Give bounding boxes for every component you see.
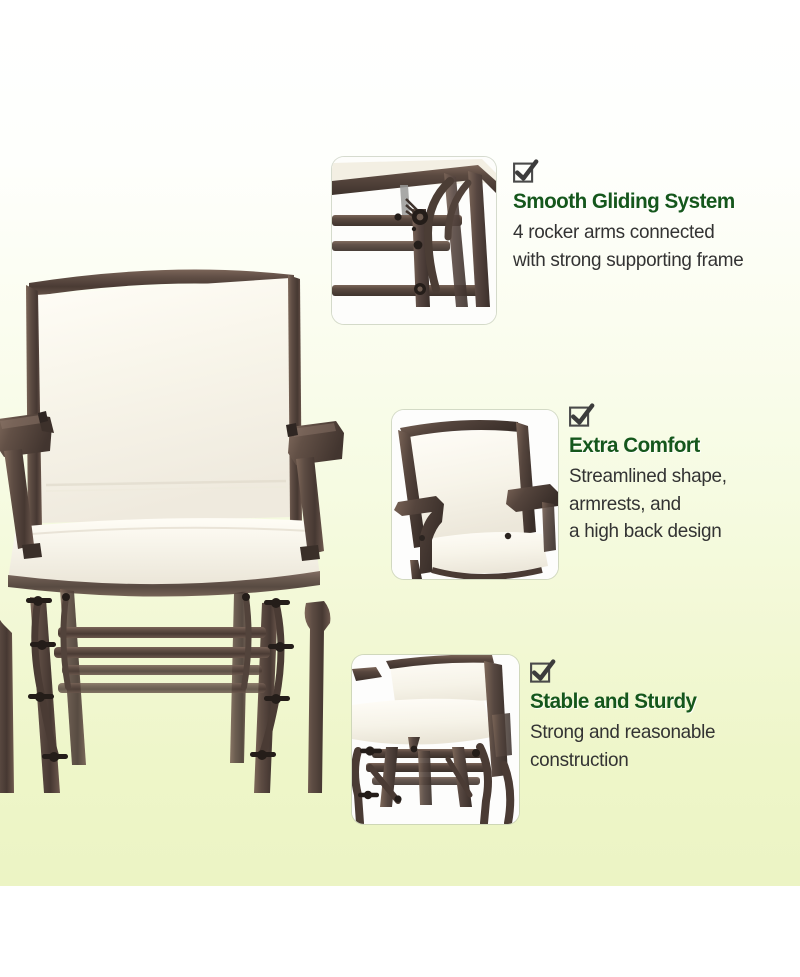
feature-block-extra-comfort: Extra Comfort Streamlined shape, armrest… — [569, 404, 800, 546]
feature-body-line: Streamlined shape, — [569, 463, 794, 491]
feature-block-smooth-gliding-system: Smooth Gliding System 4 rocker arms conn… — [513, 160, 800, 274]
feature-body: Streamlined shape, armrests, and a high … — [569, 463, 794, 546]
checkbox-checked-icon — [513, 160, 538, 183]
base-frame-construction-photo — [352, 655, 519, 824]
feature-body-line: Strong and reasonable — [530, 719, 792, 747]
checkbox-checked-icon — [569, 404, 594, 427]
infographic-canvas: Smooth Gliding System 4 rocker arms conn… — [0, 0, 800, 977]
background-white-footer — [0, 886, 800, 977]
feature-body-line: armrests, and — [569, 491, 794, 519]
feature-body-line: with strong supporting frame — [513, 247, 792, 275]
feature-title: Smooth Gliding System — [513, 189, 789, 213]
feature-block-stable-and-sturdy: Stable and Sturdy Strong and reasonable … — [530, 660, 800, 774]
feature-body-line: 4 rocker arms connected — [513, 219, 792, 247]
feature-body-line: a high back design — [569, 518, 794, 546]
feature-body: 4 rocker arms connected with strong supp… — [513, 219, 792, 274]
checkbox-checked-icon — [530, 660, 555, 683]
feature-body: Strong and reasonable construction — [530, 719, 792, 774]
rocker-arm-closeup-photo — [332, 157, 496, 324]
feature-body-line: construction — [530, 747, 792, 775]
feature-title: Extra Comfort — [569, 433, 792, 457]
main-product-photo — [0, 245, 346, 805]
chair-backrest-armrest-photo — [392, 410, 558, 579]
feature-title: Stable and Sturdy — [530, 689, 789, 713]
